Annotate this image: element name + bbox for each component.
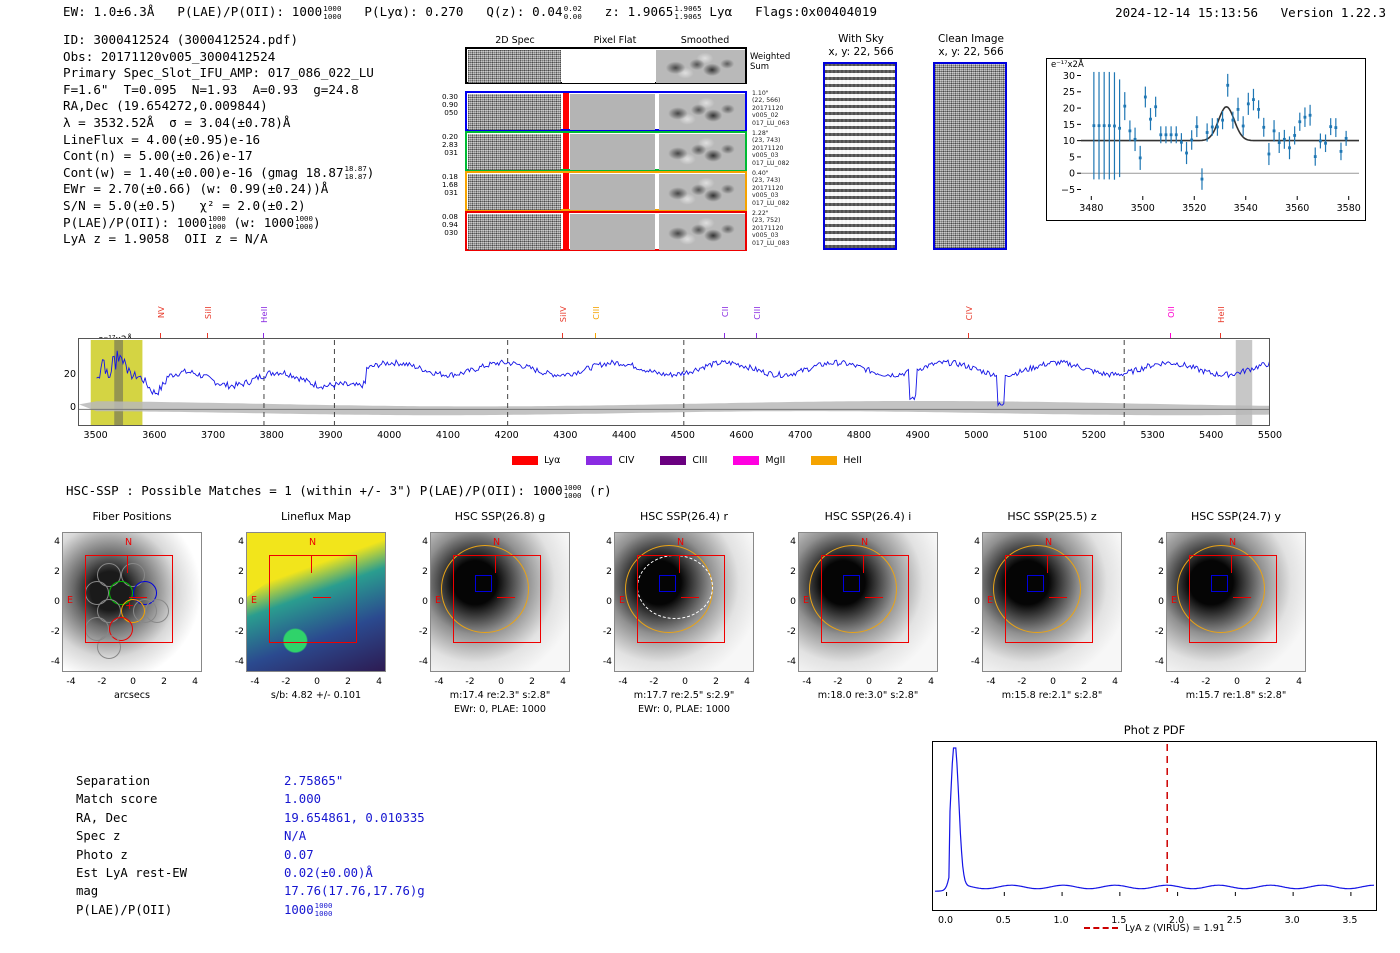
spectrum-xtick: 4800 [834, 430, 884, 441]
match-table-key: Separation [76, 772, 150, 790]
header-meta: 2024-12-14 15:13:56 Version 1.22.3 [1115, 5, 1386, 20]
cutout-xtick: -2 [93, 676, 111, 687]
fiber-2-left-labels: 0.202.83031 [432, 133, 458, 158]
cutout-image-1[interactable]: +NE [62, 532, 202, 672]
fiber-row-4 [465, 211, 747, 251]
match-table-value: N/A [284, 827, 306, 845]
fiber-row-1 [465, 91, 747, 131]
header-z-stack: 1.90651.9065 [674, 5, 701, 21]
fiber-1-left-labels: 0.300.90050 [432, 93, 458, 118]
fiber-4-right-labels: 2.22"(23, 752)20171120v005_03017_LU_083 [752, 210, 789, 247]
spectrum-xtick: 4000 [364, 430, 414, 441]
header-summary-line: EW: 1.0±6.3Å P(LAE)/P(OII): 100010001000… [63, 4, 877, 21]
cutout-xtick: 4 [1290, 676, 1308, 687]
red-box-overlay [1005, 555, 1093, 643]
compass-north-label: N [677, 537, 684, 548]
cutout-ytick: 2 [414, 566, 428, 577]
cutout-xtick: 4 [738, 676, 756, 687]
cutout-xtick: 4 [554, 676, 572, 687]
info-line-lineflux: LineFlux = 4.00(±0.95)e-16 [63, 132, 374, 149]
info-line-contw: Cont(w) = 1.40(±0.00)e-16 (gmag 18.8718.… [63, 165, 374, 182]
cutout-title: Fiber Positions [42, 510, 222, 523]
red-box-overlay [453, 555, 541, 643]
info-line-lambda: λ = 3532.52Å σ = 3.04(±0.78)Å [63, 115, 374, 132]
spectrum-panel: e⁻¹⁷x2Å NVSiIIHeIISiIVCIIICIICIIICIVOIIH… [78, 300, 1274, 470]
svg-text:10: 10 [1063, 136, 1075, 147]
cutout-title: Lineflux Map [226, 510, 406, 523]
cutout-xtick: 0 [676, 676, 694, 687]
compass-east-label: E [1171, 595, 1177, 606]
match-table-key: Photo z [76, 846, 128, 864]
match-table-key: RA, Dec [76, 809, 128, 827]
cutout-ytick: 4 [598, 536, 612, 547]
svg-text:−5: −5 [1061, 185, 1075, 196]
legend-swatch [512, 456, 538, 465]
legend-label: HeII [843, 455, 862, 466]
info-line-radec: RA,Dec (19.654272,0.009844) [63, 98, 374, 115]
cutout-ytick: -4 [230, 656, 244, 667]
emission-line-label: CII [720, 306, 730, 317]
cutout-ytick: 0 [1150, 596, 1164, 607]
cutout-caption-1: arcsecs [32, 690, 232, 701]
montage-title-smoothed: Smoothed [660, 35, 750, 46]
info-line-obs: Obs: 20171120v005_3000412524 [63, 49, 374, 66]
cutout-xtick: -2 [829, 676, 847, 687]
red-crosshair-h [129, 597, 147, 598]
cutout-ytick: -4 [46, 656, 60, 667]
svg-text:3540: 3540 [1234, 203, 1258, 214]
cutout-ytick: 2 [46, 566, 60, 577]
red-box-overlay [821, 555, 909, 643]
cutout-xtick: 0 [492, 676, 510, 687]
spectrum-xtick: 3500 [71, 430, 121, 441]
fiber-1-right-labels: 1.10"(22, 566)20171120v005_02017_LU_063 [752, 90, 789, 127]
match-table-key: mag [76, 882, 98, 900]
svg-text:30: 30 [1063, 71, 1075, 82]
match-table-value: 19.654861, 0.010335 [284, 809, 425, 827]
header-version: Version 1.22.3 [1281, 5, 1386, 20]
compass-north-label: N [125, 537, 132, 548]
spectrum-svg [78, 338, 1270, 426]
cutout-ytick: 4 [230, 536, 244, 547]
cutout-xtick: -4 [246, 676, 264, 687]
match-table-value: 0.07 [284, 846, 314, 864]
emission-line-label: SiIV [558, 306, 568, 322]
legend-label: MgII [765, 455, 785, 466]
cutout-ytick: -2 [46, 626, 60, 637]
header-timestamp: 2024-12-14 15:13:56 [1115, 5, 1258, 20]
fiber-4-left-labels: 0.080.94030 [432, 213, 458, 238]
info-line-slot: Primary Spec_Slot_IFU_AMP: 017_086_022_L… [63, 65, 374, 82]
cutout-ytick: 4 [414, 536, 428, 547]
spectrum-xtick: 5000 [951, 430, 1001, 441]
compass-north-label: N [309, 537, 316, 548]
cutout-xtick: -2 [1197, 676, 1215, 687]
cutout-xtick: 2 [707, 676, 725, 687]
spectrum-xtick: 5300 [1128, 430, 1178, 441]
cutout-title: HSC SSP(25.5) z [962, 510, 1142, 523]
red-box-overlay [637, 555, 725, 643]
header-plya: P(Lyα): 0.270 [364, 4, 463, 19]
info-line-redshift: LyA z = 1.9058 OII z = N/A [63, 231, 374, 248]
compass-east-label: E [251, 595, 257, 606]
cutout-caption-2: EWr: 0, PLAE: 1000 [400, 704, 600, 715]
compass-east-label: E [619, 595, 625, 606]
cutout-ytick: -4 [598, 656, 612, 667]
cutout-ytick: -2 [230, 626, 244, 637]
cutout-caption-1: m:18.0 re:3.0" s:2.8" [768, 690, 968, 701]
cutout-ytick: 0 [782, 596, 796, 607]
weighted-sum-2dspec-image [468, 50, 561, 83]
match-table-key: P(LAE)/P(OII) [76, 901, 172, 919]
spectrum-xtick: 5100 [1010, 430, 1060, 441]
cutout-xtick: -2 [277, 676, 295, 687]
spectrum-xtick: 3900 [305, 430, 355, 441]
cutout-xtick: -2 [1013, 676, 1031, 687]
cutout-xtick: -4 [1166, 676, 1184, 687]
cutout-ytick: 4 [46, 536, 60, 547]
svg-text:25: 25 [1063, 87, 1075, 98]
svg-text:3560: 3560 [1285, 203, 1309, 214]
phot-z-legend-dash [1084, 927, 1118, 929]
header-z: z: 1.9065 [605, 4, 674, 19]
emission-line-label: NV [156, 306, 166, 318]
spectrum-xtick: 4600 [717, 430, 767, 441]
cutout-xtick: -4 [430, 676, 448, 687]
with-sky-image [823, 62, 897, 250]
red-crosshair-v [1047, 555, 1048, 573]
cutout-xtick: 2 [523, 676, 541, 687]
spectrum-xtick: 5400 [1186, 430, 1236, 441]
red-crosshair-v [863, 555, 864, 573]
cutout-title: HSC SSP(26.4) i [778, 510, 958, 523]
weighted-sum-row [465, 47, 747, 84]
red-box-overlay [269, 555, 357, 643]
cutout-ytick: 2 [598, 566, 612, 577]
cutout-ytick: -2 [598, 626, 612, 637]
spectrum-xtick: 4700 [775, 430, 825, 441]
cutout-ytick: 4 [966, 536, 980, 547]
red-crosshair-v [1231, 555, 1232, 573]
svg-text:3480: 3480 [1079, 203, 1103, 214]
phot-z-plot [932, 741, 1377, 911]
emission-line-label: CIII [752, 306, 762, 320]
cutout-caption-1: s/b: 4.82 +/- 0.101 [216, 690, 416, 701]
spectrum-xtick: 3800 [247, 430, 297, 441]
phot-z-legend-label: LyA z (VIRUS) = 1.91 [1125, 923, 1225, 934]
red-box-overlay [1189, 555, 1277, 643]
cutout-ytick: -2 [966, 626, 980, 637]
spectrum-xtick: 3600 [129, 430, 179, 441]
cutout-ytick: 4 [782, 536, 796, 547]
cutout-title: HSC SSP(26.8) g [410, 510, 590, 523]
legend-swatch [811, 456, 837, 465]
svg-text:15: 15 [1063, 120, 1075, 131]
svg-text:3520: 3520 [1182, 203, 1206, 214]
red-crosshair-h [497, 597, 515, 598]
header-plae-stack: 10001000 [323, 5, 341, 21]
legend-item: Lyα [512, 455, 560, 466]
spectrum-xtick: 4200 [482, 430, 532, 441]
compass-east-label: E [803, 595, 809, 606]
match-table-key: Match score [76, 790, 157, 808]
match-table-value: 0.02(±0.00)Å [284, 864, 373, 882]
spectrum-xtick: 4900 [893, 430, 943, 441]
cutout-ytick: -2 [1150, 626, 1164, 637]
cutout-ytick: -4 [1150, 656, 1164, 667]
emission-line-label: SiII [203, 306, 213, 319]
cutout-xtick: 0 [124, 676, 142, 687]
red-crosshair-v [495, 555, 496, 573]
red-crosshair-h [1233, 597, 1251, 598]
cutout-xtick: 2 [1259, 676, 1277, 687]
red-crosshair-h [1049, 597, 1067, 598]
montage-title-pixelflat: Pixel Flat [570, 35, 660, 46]
cutout-title: HSC SSP(26.4) r [594, 510, 774, 523]
cutout-xtick: 2 [891, 676, 909, 687]
cutout-image-7[interactable]: NE [1166, 532, 1306, 672]
spectrum-ytick: 0 [52, 402, 76, 413]
cutout-ytick: 0 [46, 596, 60, 607]
clean-image-title: Clean Imagex, y: 22, 566 [925, 33, 1017, 59]
cutout-image-3[interactable]: NE [430, 532, 570, 672]
cutout-caption-2: EWr: 0, PLAE: 1000 [584, 704, 784, 715]
spectrum-xtick: 4500 [658, 430, 708, 441]
spectrum-ytick: 20 [52, 369, 76, 380]
cutout-xtick: 0 [308, 676, 326, 687]
svg-text:3500: 3500 [1131, 203, 1155, 214]
cutout-caption-1: m:15.8 re:2.1" s:2.8" [952, 690, 1152, 701]
cutout-xtick: 2 [155, 676, 173, 687]
red-box-overlay [85, 555, 173, 643]
legend-item: CIV [586, 455, 634, 466]
cutout-xtick: 4 [186, 676, 204, 687]
legend-swatch [660, 456, 686, 465]
fiber-row-3 [465, 171, 747, 211]
header-z-type: Lyα [709, 4, 732, 19]
cutout-ytick: 0 [414, 596, 428, 607]
red-crosshair-h [681, 597, 699, 598]
match-table-value: 17.76(17.76,17.76)g [284, 882, 425, 900]
spectrum-xtick: 3700 [188, 430, 238, 441]
red-crosshair-v [127, 555, 128, 573]
cutout-ytick: 2 [782, 566, 796, 577]
svg-text:5: 5 [1069, 152, 1075, 163]
red-crosshair-h [313, 597, 331, 598]
cutout-caption-1: m:17.7 re:2.5" s:2.9" [584, 690, 784, 701]
cutout-caption-1: m:17.4 re:2.3" s:2.8" [400, 690, 600, 701]
cutout-ytick: 2 [230, 566, 244, 577]
header-ew: EW: 1.0±6.3Å [63, 4, 155, 19]
cutout-xtick: 0 [1228, 676, 1246, 687]
emission-line-label: OII [1166, 306, 1176, 318]
cutout-ytick: 2 [1150, 566, 1164, 577]
spectrum-xtick: 5500 [1245, 430, 1295, 441]
compass-north-label: N [1045, 537, 1052, 548]
emission-line-label: CIV [964, 306, 974, 320]
compass-north-label: N [493, 537, 500, 548]
line-fit-svg: −5051015202530348035003520354035603580 [1047, 59, 1365, 220]
legend-item: HeII [811, 455, 862, 466]
fiber-3-right-labels: 0.40"(23, 743)20171120v005_03017_LU_082 [752, 170, 789, 207]
spectrum-xtick: 5200 [1069, 430, 1119, 441]
emission-line-label: HeII [1216, 306, 1226, 323]
cutout-xtick: -2 [461, 676, 479, 687]
line-fit-plot: e⁻¹⁷x2Å −5051015202530348035003520354035… [1046, 58, 1366, 221]
cutout-ytick: -2 [782, 626, 796, 637]
cutout-image-2[interactable]: NE [246, 532, 386, 672]
compass-east-label: E [435, 595, 441, 606]
compass-north-label: N [861, 537, 868, 548]
cutout-ytick: 0 [230, 596, 244, 607]
cutout-image-6[interactable]: NE [982, 532, 1122, 672]
source-info-block: ID: 3000412524 (3000412524.pdf) Obs: 201… [63, 32, 374, 248]
info-line-snr: S/N = 5.0(±0.5) χ² = 2.0(±0.2) [63, 198, 374, 215]
svg-text:0: 0 [1069, 169, 1075, 180]
legend-item: CIII [660, 455, 707, 466]
info-line-id: ID: 3000412524 (3000412524.pdf) [63, 32, 374, 49]
fiber-2-right-labels: 1.28"(23, 743)20171120v005_03017_LU_082 [752, 130, 789, 167]
red-crosshair-h [865, 597, 883, 598]
svg-text:3580: 3580 [1337, 203, 1361, 214]
phot-z-svg [933, 742, 1376, 910]
cutout-ytick: -4 [966, 656, 980, 667]
weighted-sum-pixelflat-image [562, 50, 655, 83]
match-table-value: 1.000 [284, 790, 321, 808]
header-plae-label: P(LAE)/P(OII): 1000 [177, 4, 322, 19]
header-qz-stack: 0.020.00 [564, 5, 582, 21]
cutout-xtick: -4 [982, 676, 1000, 687]
legend-label: CIV [618, 455, 634, 466]
cutout-ytick: 0 [966, 596, 980, 607]
header-flags: Flags:0x00404019 [755, 4, 877, 19]
cutout-caption-1: m:15.7 re:1.8" s:2.8" [1136, 690, 1336, 701]
cutout-xtick: 2 [1075, 676, 1093, 687]
cutout-image-5[interactable]: NE [798, 532, 938, 672]
match-table-value: 100010001000 [284, 901, 332, 919]
spectrum-xtick: 4400 [599, 430, 649, 441]
cutout-ytick: 4 [1150, 536, 1164, 547]
cutout-xtick: -4 [798, 676, 816, 687]
cutout-xtick: 2 [339, 676, 357, 687]
info-line-ewr: EWr = 2.70(±0.66) (w: 0.99(±0.24))Å [63, 181, 374, 198]
cutout-ytick: -4 [414, 656, 428, 667]
svg-text:20: 20 [1063, 103, 1075, 114]
cutout-xtick: -2 [645, 676, 663, 687]
cutout-xtick: 4 [370, 676, 388, 687]
spectrum-xtick: 4300 [540, 430, 590, 441]
cutout-ytick: -4 [782, 656, 796, 667]
info-line-params: F=1.6" T=0.095 N=1.93 A=0.93 g=24.8 [63, 82, 374, 99]
info-line-contn: Cont(n) = 5.00(±0.26)e-17 [63, 148, 374, 165]
fiber-row-2 [465, 131, 747, 171]
cutout-xtick: 0 [1044, 676, 1062, 687]
match-table-value-stack: 10001000 [315, 902, 333, 918]
header-qz: Q(z): 0.04 [486, 4, 562, 19]
cutout-xtick: -4 [62, 676, 80, 687]
with-sky-title: With Skyx, y: 22, 566 [818, 33, 904, 59]
match-table-key: Spec z [76, 827, 120, 845]
cutout-ytick: 2 [966, 566, 980, 577]
fiber-3-left-labels: 0.181.68031 [432, 173, 458, 198]
cutout-xtick: 4 [922, 676, 940, 687]
cutout-xtick: 4 [1106, 676, 1124, 687]
info-line-plae: P(LAE)/P(OII): 100010001000 (w: 10001000… [63, 215, 374, 232]
cutout-ytick: 0 [598, 596, 612, 607]
cutout-title: HSC SSP(24.7) y [1146, 510, 1326, 523]
cutout-image-4[interactable]: NE [614, 532, 754, 672]
red-crosshair-v [311, 555, 312, 573]
cutout-ytick: -2 [414, 626, 428, 637]
phot-z-title: Phot z PDF [932, 723, 1377, 737]
match-table-value: 2.75865" [284, 772, 343, 790]
clean-image-image [933, 62, 1007, 250]
compass-north-label: N [1229, 537, 1236, 548]
legend-swatch [733, 456, 759, 465]
legend-label: Lyα [544, 455, 560, 466]
cutout-xtick: -4 [614, 676, 632, 687]
cutout-xtick: 0 [860, 676, 878, 687]
spectrum-legend: LyαCIVCIIIMgIIHeII [0, 450, 1400, 469]
emission-line-label: HeII [259, 306, 269, 323]
emission-line-label: CIII [591, 306, 601, 320]
compass-east-label: E [987, 595, 993, 606]
match-table-key: Est LyA rest-EW [76, 864, 187, 882]
phot-z-legend: LyA z (VIRUS) = 1.91 [932, 923, 1377, 934]
spectrum-xtick: 4100 [423, 430, 473, 441]
red-crosshair-v [679, 555, 680, 573]
legend-swatch [586, 456, 612, 465]
legend-item: MgII [733, 455, 785, 466]
hsc-summary: HSC-SSP : Possible Matches = 1 (within +… [66, 483, 612, 500]
weighted-sum-smoothed-image [656, 50, 745, 83]
montage-title-2dspec: 2D Spec [470, 35, 560, 46]
compass-east-label: E [67, 595, 73, 606]
weighted-sum-label: Weighted Sum [750, 52, 790, 72]
legend-label: CIII [692, 455, 707, 466]
